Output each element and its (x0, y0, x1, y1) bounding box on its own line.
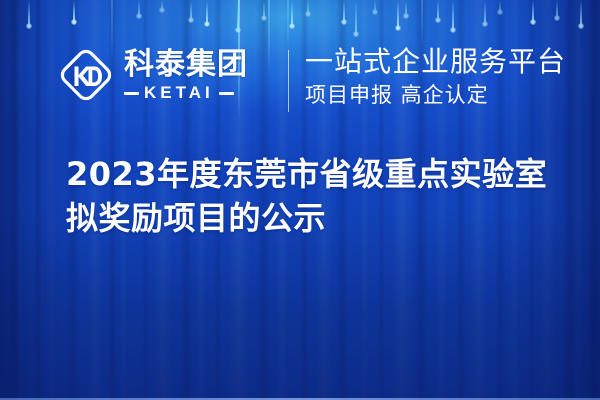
tagline-sub: 项目申报 高企认定 (305, 80, 566, 110)
meteor-streak (343, 0, 345, 22)
meteor-streak (307, 0, 309, 14)
meteor-streak (437, 0, 439, 20)
meteor-streak (161, 0, 163, 10)
meteor-streak (206, 0, 208, 24)
meteor-streak (28, 0, 30, 26)
header-divider (288, 50, 289, 112)
meteor-streak (499, 0, 501, 12)
tagline-main: 一站式企业服务平台 (305, 44, 566, 80)
meteor-streak (397, 0, 399, 28)
company-logo[interactable]: 科泰集团 KETAI (57, 44, 248, 106)
meteor-streak (374, 0, 376, 12)
tagline-block: 一站式企业服务平台 项目申报 高企认定 (305, 44, 566, 110)
meteor-streak (452, 0, 454, 30)
logo-company-name-cn: 科泰集团 (124, 47, 248, 82)
meteor-streak (190, 0, 192, 20)
meteor-streak (405, 0, 407, 16)
promo-banner: 科泰集团 KETAI 一站式企业服务平台 项目申报 高企认定 2023年度东莞市… (0, 0, 600, 400)
logo-company-name-en: KETAI (124, 84, 248, 102)
meteor-streak (532, 0, 534, 22)
meteor-streak (291, 0, 293, 26)
logo-company-en-text: KETAI (144, 84, 214, 102)
page-title: 2023年度东莞市省级重点实验室拟奖励项目的公示 (66, 152, 578, 240)
meteor-streak (355, 0, 357, 34)
logo-dash-left-icon (124, 92, 139, 95)
ketai-diamond-kd-mark-icon (57, 44, 115, 106)
logo-wordmark: 科泰集团 KETAI (124, 48, 248, 102)
meteor-streak (263, 0, 265, 18)
meteor-streak (556, 0, 558, 18)
meteor-streak (580, 0, 582, 26)
meteor-streak (484, 0, 486, 24)
logo-dash-right-icon (219, 92, 234, 95)
meteor-streak (73, 0, 75, 22)
cyan-accent-line (421, 0, 423, 46)
meteor-streak (138, 0, 140, 16)
banner-header: 科泰集团 KETAI 一站式企业服务平台 项目申报 高企认定 (0, 44, 600, 118)
